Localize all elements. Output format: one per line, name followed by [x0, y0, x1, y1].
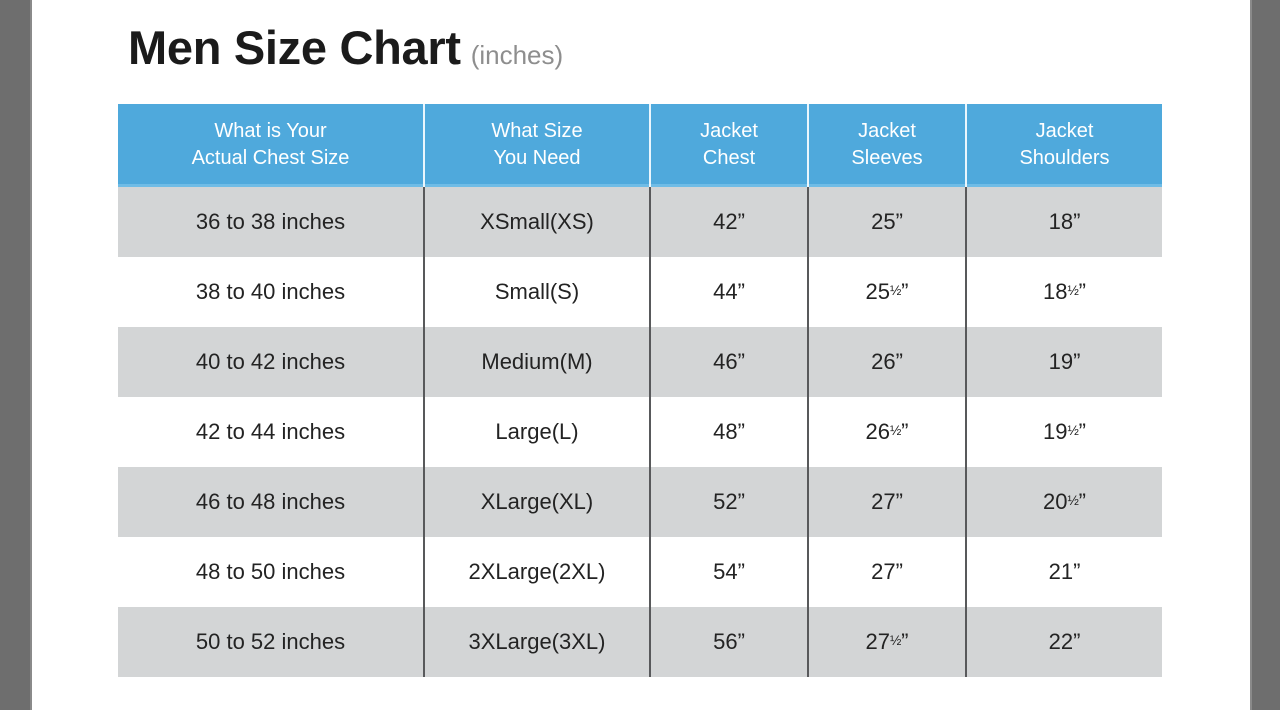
- cell-jacket-sleeves: 26½”: [808, 397, 966, 467]
- cell-jacket-chest: 46”: [650, 327, 808, 397]
- cell-jacket-chest: 48”: [650, 397, 808, 467]
- page-title: Men Size Chart (inches): [128, 20, 563, 75]
- fraction-half: ½: [1068, 493, 1079, 508]
- column-header-line1: Jacket: [657, 118, 801, 145]
- table-row: 46 to 48 inchesXLarge(XL)52”27”20½”: [118, 467, 1162, 537]
- table-row: 40 to 42 inchesMedium(M)46”26”19”: [118, 327, 1162, 397]
- cell-size-you-need: XSmall(XS): [424, 187, 650, 257]
- cell-jacket-sleeves: 26”: [808, 327, 966, 397]
- column-header-line2: Sleeves: [815, 145, 959, 172]
- table-header: What is Your Actual Chest Size What Size…: [118, 104, 1162, 187]
- column-header-jacket-sleeves: Jacket Sleeves: [808, 104, 966, 187]
- letterbox-right: [1250, 0, 1280, 710]
- slide-canvas: Men Size Chart (inches) What is Your Act…: [32, 0, 1250, 710]
- cell-actual-chest-size: 48 to 50 inches: [118, 537, 424, 607]
- cell-jacket-shoulders: 20½”: [966, 467, 1162, 537]
- cell-size-you-need: 2XLarge(2XL): [424, 537, 650, 607]
- column-header-line1: Jacket: [973, 118, 1156, 145]
- cell-jacket-chest: 56”: [650, 607, 808, 677]
- column-header-line1: What Size: [431, 118, 643, 145]
- table-row: 42 to 44 inchesLarge(L)48”26½”19½”: [118, 397, 1162, 467]
- column-header-line2: You Need: [431, 145, 643, 172]
- fraction-half: ½: [1068, 283, 1079, 298]
- table-body: 36 to 38 inchesXSmall(XS)42”25”18”38 to …: [118, 187, 1162, 677]
- cell-jacket-shoulders: 19”: [966, 327, 1162, 397]
- column-header-line2: Shoulders: [973, 145, 1156, 172]
- cell-jacket-shoulders: 21”: [966, 537, 1162, 607]
- page-title-main: Men Size Chart: [128, 20, 461, 75]
- column-header-jacket-chest: Jacket Chest: [650, 104, 808, 187]
- fraction-half: ½: [890, 283, 901, 298]
- column-header-line1: What is Your: [124, 118, 417, 145]
- cell-jacket-sleeves: 25”: [808, 187, 966, 257]
- cell-actual-chest-size: 40 to 42 inches: [118, 327, 424, 397]
- cell-size-you-need: 3XLarge(3XL): [424, 607, 650, 677]
- table-row: 36 to 38 inchesXSmall(XS)42”25”18”: [118, 187, 1162, 257]
- cell-size-you-need: Small(S): [424, 257, 650, 327]
- column-header-line2: Actual Chest Size: [124, 145, 417, 172]
- slide-page: Men Size Chart (inches) What is Your Act…: [0, 0, 1280, 710]
- cell-jacket-shoulders: 19½”: [966, 397, 1162, 467]
- fraction-half: ½: [1068, 423, 1079, 438]
- table-row: 50 to 52 inches3XLarge(3XL)56”27½”22”: [118, 607, 1162, 677]
- cell-jacket-shoulders: 18”: [966, 187, 1162, 257]
- column-header-jacket-shoulders: Jacket Shoulders: [966, 104, 1162, 187]
- cell-actual-chest-size: 46 to 48 inches: [118, 467, 424, 537]
- cell-jacket-chest: 42”: [650, 187, 808, 257]
- cell-jacket-chest: 44”: [650, 257, 808, 327]
- fraction-half: ½: [890, 423, 901, 438]
- cell-actual-chest-size: 38 to 40 inches: [118, 257, 424, 327]
- page-title-unit: (inches): [471, 40, 563, 71]
- table-row: 48 to 50 inches2XLarge(2XL)54”27”21”: [118, 537, 1162, 607]
- letterbox-left: [0, 0, 32, 710]
- cell-jacket-chest: 52”: [650, 467, 808, 537]
- size-chart-table: What is Your Actual Chest Size What Size…: [118, 104, 1162, 677]
- fraction-half: ½: [890, 633, 901, 648]
- column-header-line2: Chest: [657, 145, 801, 172]
- cell-actual-chest-size: 36 to 38 inches: [118, 187, 424, 257]
- cell-jacket-shoulders: 18½”: [966, 257, 1162, 327]
- cell-jacket-sleeves: 25½”: [808, 257, 966, 327]
- column-header-line1: Jacket: [815, 118, 959, 145]
- cell-actual-chest-size: 42 to 44 inches: [118, 397, 424, 467]
- table-row: 38 to 40 inchesSmall(S)44”25½”18½”: [118, 257, 1162, 327]
- cell-size-you-need: Large(L): [424, 397, 650, 467]
- table-header-row: What is Your Actual Chest Size What Size…: [118, 104, 1162, 187]
- cell-size-you-need: Medium(M): [424, 327, 650, 397]
- column-header-size-you-need: What Size You Need: [424, 104, 650, 187]
- cell-jacket-sleeves: 27”: [808, 537, 966, 607]
- cell-jacket-chest: 54”: [650, 537, 808, 607]
- cell-size-you-need: XLarge(XL): [424, 467, 650, 537]
- cell-jacket-sleeves: 27½”: [808, 607, 966, 677]
- cell-jacket-shoulders: 22”: [966, 607, 1162, 677]
- cell-actual-chest-size: 50 to 52 inches: [118, 607, 424, 677]
- cell-jacket-sleeves: 27”: [808, 467, 966, 537]
- column-header-actual-chest-size: What is Your Actual Chest Size: [118, 104, 424, 187]
